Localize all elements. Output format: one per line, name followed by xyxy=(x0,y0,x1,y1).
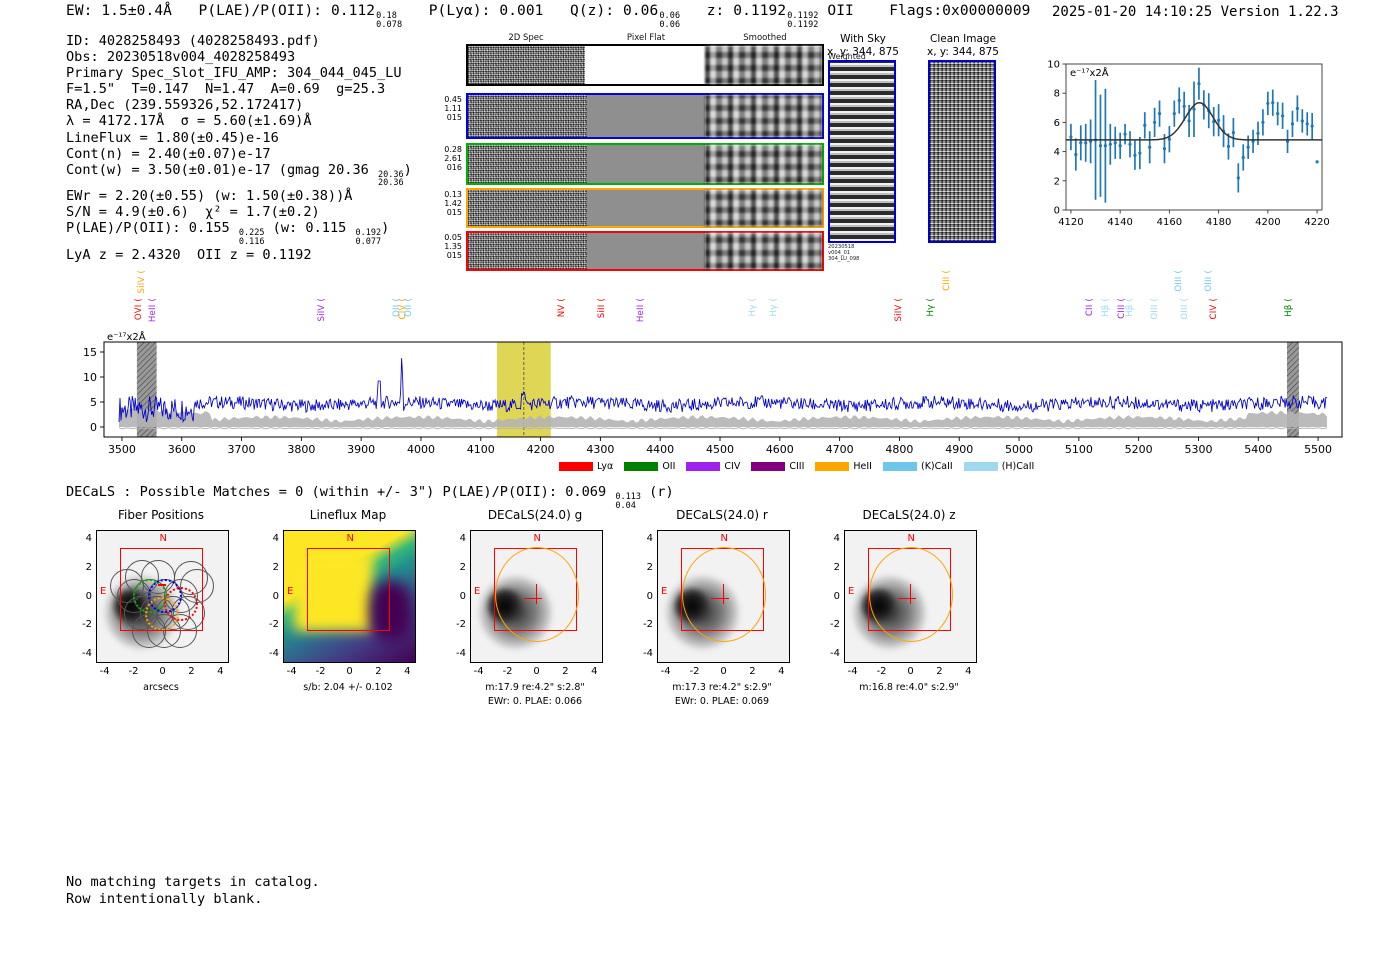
line-id-0: OVI ( xyxy=(134,298,144,320)
line-id-21: OIII ( xyxy=(1180,298,1190,320)
fiber-cell-1-0 xyxy=(468,145,587,183)
svg-text:4160: 4160 xyxy=(1157,217,1182,228)
fiber-left-labels-0: 0.45 1.11 015 xyxy=(430,95,462,123)
fiber-row-2 xyxy=(466,188,824,228)
compass-e-3: E xyxy=(661,586,667,597)
info-line-5: λ = 4172.17Å σ = 5.60(±1.69)Å xyxy=(66,113,412,129)
z-species: OII xyxy=(827,3,854,19)
crosshair-v-3 xyxy=(723,584,724,604)
line-id-20: OIII ( xyxy=(1174,270,1184,292)
footer-note: No matching targets in catalog. Row inte… xyxy=(66,874,320,908)
decals-panel-0: Fiber PositionsNE-4-4-2-2002244arcsecs xyxy=(66,508,256,698)
panel-axes-4: NE xyxy=(844,530,977,663)
ew-value: 1.5±0.4Å xyxy=(101,3,172,19)
ytick-3-0: -4 xyxy=(635,648,653,659)
panel-caption2-2: EWr: 0. PLAE: 0.066 xyxy=(440,696,630,707)
svg-text:e⁻¹⁷x2Å: e⁻¹⁷x2Å xyxy=(1070,66,1109,79)
svg-text:2: 2 xyxy=(1054,176,1060,187)
svg-text:4000: 4000 xyxy=(407,443,435,456)
aperture-box-1 xyxy=(307,548,391,630)
svg-text:6: 6 xyxy=(1054,118,1060,129)
legend-label-1: OII xyxy=(662,461,675,472)
panel-caption2-3: EWr: 0. PLAE: 0.069 xyxy=(627,696,817,707)
ytick-2-0: -4 xyxy=(448,648,466,659)
fiber-cell-1-1 xyxy=(587,145,706,183)
decals-panel-1: Lineflux MapNE-4-4-2-2002244s/b: 2.04 +/… xyxy=(253,508,443,698)
svg-text:15: 15 xyxy=(83,346,97,359)
xtick-2-2: 0 xyxy=(530,666,544,677)
panel-caption1-3: m:17.3 re:4.2" s:2.9" xyxy=(627,682,817,693)
fiber-row-1 xyxy=(466,143,824,185)
crosshair-v-2 xyxy=(536,584,537,604)
ytick-1-0: -4 xyxy=(261,648,279,659)
line-id-13: Hγ ( xyxy=(926,298,936,316)
legend-item-0: Lyα xyxy=(559,461,613,472)
spec2d-col-title-2: Smoothed xyxy=(725,33,805,43)
ytick-4-3: 2 xyxy=(822,562,840,573)
legend-item-5: (K)CaII xyxy=(883,461,953,472)
svg-text:4600: 4600 xyxy=(766,443,794,456)
line-id-2: HeII ( xyxy=(148,298,158,322)
z-value: 0.1192 xyxy=(733,3,786,19)
ytick-2-3: 2 xyxy=(448,562,466,573)
ytick-4-0: -4 xyxy=(822,648,840,659)
header-summary-line: EW: 1.5±0.4Å P(LAE)/P(OII): 0.1120.180.0… xyxy=(66,3,1030,29)
xtick-3-2: 0 xyxy=(717,666,731,677)
svg-text:4120: 4120 xyxy=(1058,217,1083,228)
line-id-19: OIII ( xyxy=(1150,298,1160,320)
compass-n-4: N xyxy=(908,533,915,544)
xtick-2-4: 4 xyxy=(587,666,601,677)
svg-text:e⁻¹⁷x2Å: e⁻¹⁷x2Å xyxy=(107,330,146,343)
info-line-12: LyA z = 2.4320 OII z = 0.1192 xyxy=(66,247,412,263)
detection-info-block: ID: 4028258493 (4028258493.pdf)Obs: 2023… xyxy=(66,33,412,263)
line-id-14: CIII ( xyxy=(942,270,952,291)
fiber-cell-0-1 xyxy=(587,95,706,137)
xtick-3-1: -2 xyxy=(688,666,702,677)
svg-text:3600: 3600 xyxy=(168,443,196,456)
ytick-1-1: -2 xyxy=(261,619,279,630)
cutout-subtitle-1: x, y: 344, 875 xyxy=(903,46,1023,59)
info-line-2: Primary Spec_Slot_IFU_AMP: 304_044_045_L… xyxy=(66,65,412,81)
line-id-22: OIII ( xyxy=(1204,270,1214,292)
svg-text:3700: 3700 xyxy=(228,443,256,456)
xtick-1-3: 2 xyxy=(371,666,385,677)
xtick-0-0: -4 xyxy=(98,666,112,677)
panel-axes-0: NE xyxy=(96,530,229,663)
legend-label-4: HeII xyxy=(853,461,872,472)
crosshair-h-4 xyxy=(898,598,916,599)
plae-label: P(LAE)/P(OII): xyxy=(198,3,322,19)
z-lo: 0.1192 xyxy=(787,21,818,30)
qz-lo: 0.06 xyxy=(659,21,680,30)
info-line-6: LineFlux = 1.80(±0.45)e-16 xyxy=(66,130,412,146)
qz-value: 0.06 xyxy=(623,3,658,19)
xtick-0-2: 0 xyxy=(156,666,170,677)
ytick-4-2: 0 xyxy=(822,591,840,602)
spec2d-col-title-0: 2D Spec xyxy=(486,33,566,43)
xtick-4-1: -2 xyxy=(875,666,889,677)
crosshair-h-0 xyxy=(158,584,166,585)
ew-label: EW: xyxy=(66,3,93,19)
svg-text:4700: 4700 xyxy=(826,443,854,456)
full-spectrum-chart: 3500360037003800390040004100420043004400… xyxy=(60,262,1350,467)
aperture-box-0 xyxy=(120,548,204,630)
line-id-3: SiIV ( xyxy=(317,298,327,322)
legend-swatch-4 xyxy=(815,462,849,471)
compass-e-0: E xyxy=(100,586,106,597)
legend-swatch-2 xyxy=(686,462,720,471)
line-id-11: Hγ ( xyxy=(769,298,779,316)
svg-text:0: 0 xyxy=(90,421,97,434)
compass-n-2: N xyxy=(534,533,541,544)
svg-text:3800: 3800 xyxy=(287,443,315,456)
info-line-7: Cont(n) = 2.40(±0.07)e-17 xyxy=(66,146,412,162)
cutout-title-text-1: Clean Image xyxy=(903,33,1023,46)
svg-text:4200: 4200 xyxy=(527,443,555,456)
svg-text:3900: 3900 xyxy=(347,443,375,456)
svg-text:0: 0 xyxy=(1054,206,1060,217)
svg-text:4100: 4100 xyxy=(467,443,495,456)
compass-e-2: E xyxy=(474,586,480,597)
svg-text:8: 8 xyxy=(1054,89,1060,100)
legend-swatch-5 xyxy=(883,462,917,471)
spectrum-legend: LyαOIICIVCIIIHeII(K)CaII(H)CaII xyxy=(559,461,1034,472)
xtick-1-0: -4 xyxy=(285,666,299,677)
fiber-cell-2-1 xyxy=(587,190,706,226)
clean-image-cutout xyxy=(928,60,996,243)
svg-text:5100: 5100 xyxy=(1065,443,1093,456)
svg-text:4200: 4200 xyxy=(1255,217,1280,228)
ytick-4-4: 4 xyxy=(822,533,840,544)
xtick-4-2: 0 xyxy=(904,666,918,677)
legend-item-2: CIV xyxy=(686,461,740,472)
line-id-24: Hβ ( xyxy=(1284,298,1294,317)
plae-value: 0.112 xyxy=(331,3,375,19)
panel-caption1-2: m:17.9 re:4.2" s:2.8" xyxy=(440,682,630,693)
panel-axes-3: NE xyxy=(657,530,790,663)
fiber-cell-0-0 xyxy=(468,95,587,137)
fiber-cell-2-0 xyxy=(468,190,587,226)
xtick-1-4: 4 xyxy=(400,666,414,677)
svg-text:5500: 5500 xyxy=(1304,443,1332,456)
compass-n-3: N xyxy=(721,533,728,544)
legend-label-3: CIII xyxy=(789,461,804,472)
xtick-1-2: 0 xyxy=(343,666,357,677)
xtick-2-0: -4 xyxy=(472,666,486,677)
xtick-2-3: 2 xyxy=(558,666,572,677)
fiber-left-labels-1: 0.28 2.61 016 xyxy=(430,145,462,173)
info-line-8: Cont(w) = 3.50(±0.01)e-17 (gmag 20.36 20… xyxy=(66,162,412,188)
legend-label-0: Lyα xyxy=(597,461,613,472)
line-profile-chart: 4120414041604180420042200246810e⁻¹⁷x2Å xyxy=(1030,56,1330,236)
line-id-16: Hβ ( xyxy=(1101,298,1111,317)
crosshair-h-2 xyxy=(524,598,542,599)
svg-text:5400: 5400 xyxy=(1244,443,1272,456)
info-line-9: EWr = 2.20(±0.55) (w: 1.50(±0.38))Å xyxy=(66,188,412,204)
ytick-3-1: -2 xyxy=(635,619,653,630)
ytick-3-3: 2 xyxy=(635,562,653,573)
info-line-3: F=1.5" T=0.147 N=1.47 A=0.69 g=25.3 xyxy=(66,81,412,97)
ytick-2-1: -2 xyxy=(448,619,466,630)
decals-panel-2: DECaLS(24.0) gNE-4-4-2-2002244m:17.9 re:… xyxy=(440,508,630,698)
info-line-10: S/N = 4.9(±0.6) χ² = 1.7(±0.2) xyxy=(66,204,412,220)
line-id-23: CIV ( xyxy=(1209,298,1219,320)
legend-item-3: CIII xyxy=(751,461,804,472)
compass-n-0: N xyxy=(160,533,167,544)
decals-header: DECaLS : Possible Matches = 0 (within +/… xyxy=(66,484,674,510)
fiber-left-labels-3: 0.05 1.35 015 xyxy=(430,233,462,261)
line-id-10: Hγ ( xyxy=(748,298,758,316)
ytick-3-2: 0 xyxy=(635,591,653,602)
panel-title-0: Fiber Positions xyxy=(66,508,256,522)
legend-label-5: (K)CaII xyxy=(921,461,953,472)
sky-clean-cutouts: With Skyx, y: 344, 875Clean Imagex, y: 3… xyxy=(800,33,1030,258)
spec2d-col-title-1: Pixel Flat xyxy=(606,33,686,43)
panel-axes-1: NE xyxy=(283,530,416,663)
svg-text:4180: 4180 xyxy=(1206,217,1231,228)
svg-text:10: 10 xyxy=(1047,60,1060,71)
legend-swatch-1 xyxy=(624,462,658,471)
panel-title-1: Lineflux Map xyxy=(253,508,443,522)
xtick-0-1: -2 xyxy=(127,666,141,677)
spec2d-panel-group: 2D SpecPixel FlatSmoothedWeighted Sum0.4… xyxy=(430,33,790,258)
fiber-left-labels-2: 0.13 1.42 015 xyxy=(430,190,462,218)
crosshair-h-3 xyxy=(711,598,729,599)
svg-text:4900: 4900 xyxy=(945,443,973,456)
decals-panel-group: Fiber PositionsNE-4-4-2-2002244arcsecsLi… xyxy=(52,508,1052,733)
ytick-0-3: 2 xyxy=(74,562,92,573)
orange-ellipse-2 xyxy=(495,547,579,642)
svg-text:10: 10 xyxy=(83,371,97,384)
plya-value: 0.001 xyxy=(499,3,543,19)
plae-lo: 0.078 xyxy=(376,21,402,30)
xtick-1-1: -2 xyxy=(314,666,328,677)
line-id-1: SiIV ( xyxy=(137,270,147,294)
weighted-sum-row xyxy=(466,44,824,86)
footer-line-1: No matching targets in catalog. xyxy=(66,874,320,891)
svg-text:4400: 4400 xyxy=(646,443,674,456)
compass-n-1: N xyxy=(347,533,354,544)
compass-e-4: E xyxy=(848,586,854,597)
xtick-4-0: -4 xyxy=(846,666,860,677)
orange-ellipse-3 xyxy=(682,547,766,642)
legend-item-6: (H)CaII xyxy=(964,461,1035,472)
legend-swatch-6 xyxy=(964,462,998,471)
line-id-9: HeII ( xyxy=(636,298,646,322)
line-id-7: NV ( xyxy=(557,298,567,317)
info-line-1: Obs: 20230518v004_4028258493 xyxy=(66,49,412,65)
ytick-4-1: -2 xyxy=(822,619,840,630)
ytick-3-4: 4 xyxy=(635,533,653,544)
legend-item-1: OII xyxy=(624,461,675,472)
fiber-row-0 xyxy=(466,93,824,139)
panel-xlabel-0: arcsecs xyxy=(66,682,256,693)
svg-text:5: 5 xyxy=(90,396,97,409)
line-id-8: SiII ( xyxy=(597,298,607,318)
panel-caption1-4: m:16.8 re:4.0" s:2.9" xyxy=(814,682,1004,693)
orange-ellipse-4 xyxy=(869,547,953,642)
svg-text:3500: 3500 xyxy=(108,443,136,456)
crosshair-v-4 xyxy=(910,584,911,604)
legend-item-4: HeII xyxy=(815,461,872,472)
with-sky-cutout xyxy=(828,60,896,243)
info-line-0: ID: 4028258493 (4028258493.pdf) xyxy=(66,33,412,49)
xtick-4-4: 4 xyxy=(961,666,975,677)
compass-e-1: E xyxy=(287,586,293,597)
weighted-sum-cell-1 xyxy=(585,46,704,84)
panel-caption1-1: s/b: 2.04 +/- 0.102 xyxy=(253,682,443,693)
svg-text:4220: 4220 xyxy=(1304,217,1329,228)
plya-label: P(Lyα): xyxy=(429,3,491,19)
legend-swatch-3 xyxy=(751,462,785,471)
ytick-1-2: 0 xyxy=(261,591,279,602)
z-label: z: xyxy=(707,3,725,19)
svg-text:4800: 4800 xyxy=(885,443,913,456)
legend-label-6: (H)CaII xyxy=(1002,461,1035,472)
decals-panel-4: DECaLS(24.0) zNE-4-4-2-2002244m:16.8 re:… xyxy=(814,508,1004,698)
ytick-1-4: 4 xyxy=(261,533,279,544)
svg-text:5300: 5300 xyxy=(1184,443,1212,456)
xtick-3-3: 2 xyxy=(745,666,759,677)
ytick-0-0: -4 xyxy=(74,648,92,659)
legend-label-2: CIV xyxy=(724,461,740,472)
svg-text:4500: 4500 xyxy=(706,443,734,456)
ytick-0-4: 4 xyxy=(74,533,92,544)
svg-text:5000: 5000 xyxy=(1005,443,1033,456)
svg-text:5200: 5200 xyxy=(1125,443,1153,456)
xtick-0-3: 2 xyxy=(184,666,198,677)
xtick-0-4: 4 xyxy=(213,666,227,677)
panel-title-4: DECaLS(24.0) z xyxy=(814,508,1004,522)
ytick-2-2: 0 xyxy=(448,591,466,602)
xtick-3-4: 4 xyxy=(774,666,788,677)
cutout-title-1: Clean Imagex, y: 344, 875 xyxy=(903,33,1023,58)
line-id-15: CII ( xyxy=(1085,298,1095,316)
xtick-2-1: -2 xyxy=(501,666,515,677)
timestamp: 2025-01-20 14:10:25 Version 1.22.3 xyxy=(1052,4,1339,20)
svg-text:4140: 4140 xyxy=(1107,217,1132,228)
legend-swatch-0 xyxy=(559,462,593,471)
flags-label: Flags:0x00000009 xyxy=(889,3,1030,19)
decals-panel-3: DECaLS(24.0) rNE-4-4-2-2002244m:17.3 re:… xyxy=(627,508,817,698)
ytick-0-1: -2 xyxy=(74,619,92,630)
xtick-4-3: 2 xyxy=(932,666,946,677)
panel-title-2: DECaLS(24.0) g xyxy=(440,508,630,522)
line-id-6: OII ( xyxy=(404,298,414,317)
svg-text:4300: 4300 xyxy=(586,443,614,456)
info-line-11: P(LAE)/P(OII): 0.155 0.2250.116 (w: 0.11… xyxy=(66,220,412,246)
ytick-1-3: 2 xyxy=(261,562,279,573)
qz-label: Q(z): xyxy=(570,3,614,19)
info-line-4: RA,Dec (239.559326,52.172417) xyxy=(66,97,412,113)
panel-axes-2: NE xyxy=(470,530,603,663)
footer-line-2: Row intentionally blank. xyxy=(66,891,320,908)
xtick-3-0: -4 xyxy=(659,666,673,677)
line-id-18: Hβ ( xyxy=(1125,298,1135,317)
ytick-2-4: 4 xyxy=(448,533,466,544)
ytick-0-2: 0 xyxy=(74,591,92,602)
weighted-sum-cell-0 xyxy=(468,46,585,84)
svg-text:4: 4 xyxy=(1054,147,1060,158)
line-id-12: SiIV ( xyxy=(894,298,904,322)
panel-title-3: DECaLS(24.0) r xyxy=(627,508,817,522)
